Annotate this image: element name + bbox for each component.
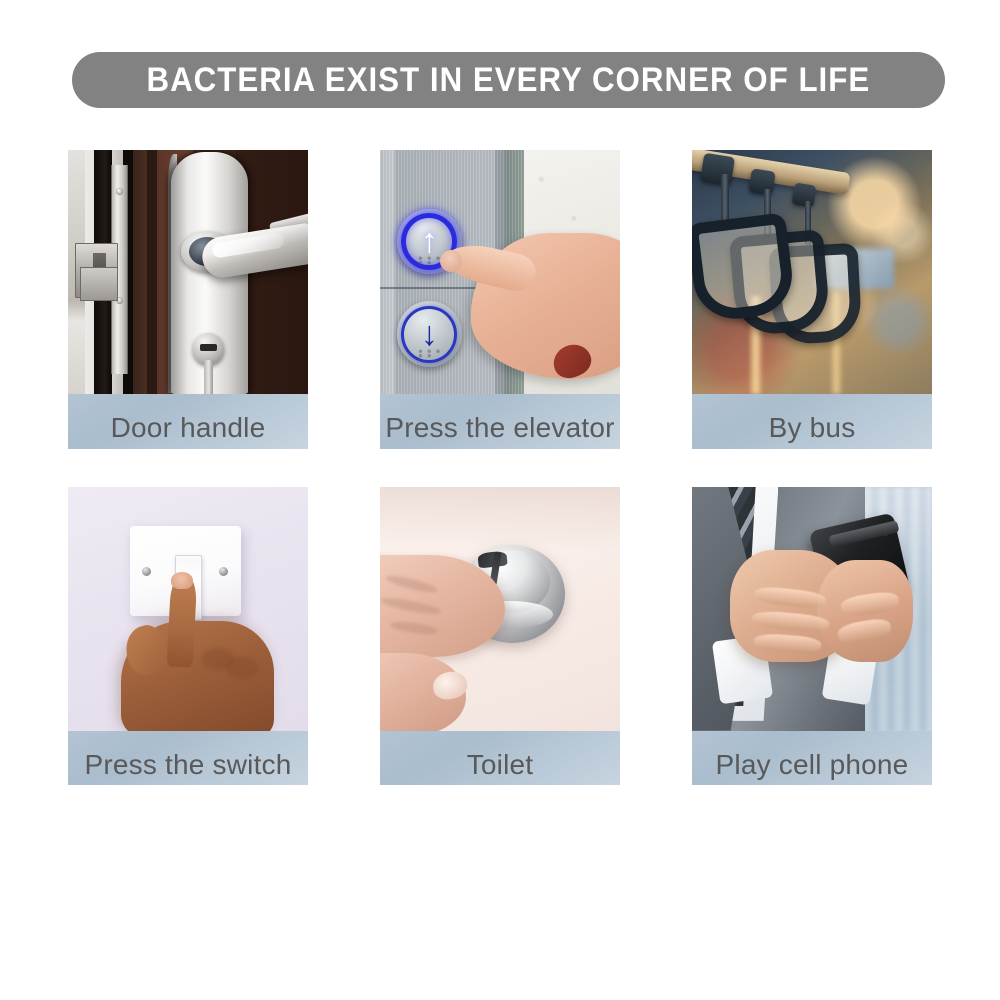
strap-clamp	[791, 183, 816, 208]
caption-play-cell-phone: Play cell phone	[692, 745, 932, 786]
grid-item-by-bus[interactable]: By bus	[692, 150, 932, 449]
strap-clamp	[699, 153, 734, 187]
header-banner-pill: BACTERIA EXIST IN EVERY CORNER OF LIFE	[72, 52, 945, 108]
grid-row-1: Door handle ↑ ↓	[0, 150, 1000, 449]
play-cell-phone-image[interactable]	[692, 487, 932, 731]
elevator-scene: ↑ ↓	[380, 150, 620, 394]
toilet-image[interactable]	[380, 487, 620, 731]
caption-toilet: Toilet	[380, 745, 620, 786]
cistern-shadow	[380, 487, 620, 550]
caption-press-the-switch: Press the switch	[68, 745, 308, 786]
grid-item-toilet[interactable]: Toilet	[380, 487, 620, 786]
arrow-down-icon: ↓	[421, 317, 438, 351]
door-handle-image[interactable]	[68, 150, 308, 394]
grid-item-press-the-switch[interactable]: Press the switch	[68, 487, 308, 786]
grid-row-2: Press the switch	[0, 487, 1000, 786]
elevator-down-button[interactable]: ↓	[397, 301, 462, 367]
fingertip	[171, 572, 193, 589]
grid-item-door-handle[interactable]: Door handle	[68, 150, 308, 449]
door-latch-secondary	[80, 267, 118, 301]
braille-dots	[417, 256, 442, 265]
caption-press-the-elevator: Press the elevator	[380, 408, 620, 449]
knuckle-shadow	[226, 657, 257, 679]
keyhole-shaft	[204, 360, 214, 394]
press-the-elevator-image[interactable]: ↑ ↓	[380, 150, 620, 394]
image-grid: Door handle ↑ ↓	[0, 150, 1000, 785]
light-switch-scene	[68, 487, 308, 731]
arrow-up-icon: ↑	[421, 224, 438, 258]
header-banner: BACTERIA EXIST IN EVERY CORNER OF LIFE	[72, 52, 945, 108]
caption-by-bus: By bus	[692, 408, 932, 449]
bus-scene	[692, 150, 932, 394]
braille-dots	[417, 349, 442, 358]
caption-door-handle: Door handle	[68, 408, 308, 449]
grid-item-play-cell-phone[interactable]: Play cell phone	[692, 487, 932, 786]
cellphone-scene	[692, 487, 932, 731]
page-title: BACTERIA EXIST IN EVERY CORNER OF LIFE	[147, 63, 871, 97]
strap-clamp	[748, 168, 776, 196]
grid-item-press-the-elevator[interactable]: ↑ ↓ Press the elevator	[380, 150, 620, 449]
toilet-scene	[380, 487, 620, 731]
press-the-switch-image[interactable]	[68, 487, 308, 731]
by-bus-image[interactable]	[692, 150, 932, 394]
door-scene	[68, 150, 308, 394]
